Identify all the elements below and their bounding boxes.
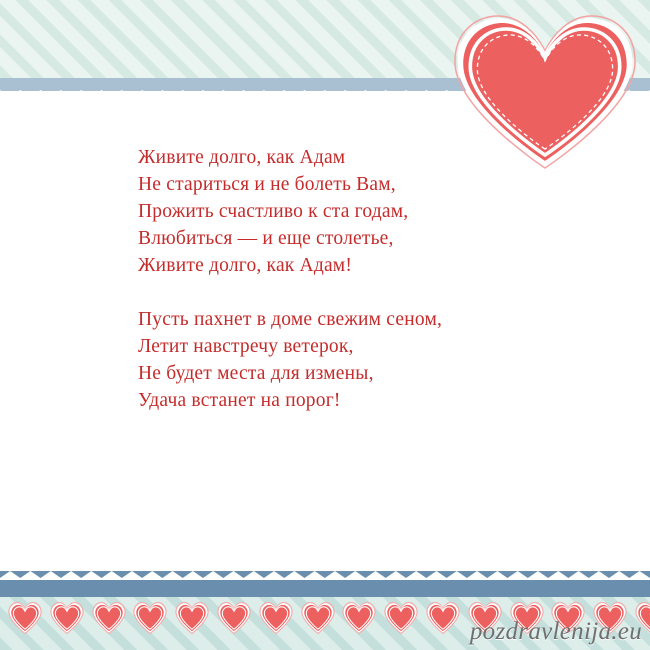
poem-stanza-1: Живите долго, как Адам Не стариться и не…: [138, 144, 578, 279]
heart-icon: [49, 601, 85, 635]
poem-line: Прожить счастливо к ста годам,: [138, 198, 578, 225]
heart-icon: [132, 601, 168, 635]
watermark-text: pozdravlenija.eu: [470, 618, 642, 646]
heart-icon: [258, 601, 294, 635]
poem-stanza-2: Пусть пахнет в доме свежим сеном, Летит …: [138, 306, 578, 414]
mini-heart-icon: [383, 601, 419, 635]
poem-text: Живите долго, как Адам Не стариться и не…: [138, 144, 578, 414]
poem-line: Не стариться и не болеть Вам,: [138, 171, 578, 198]
poem-line: Пусть пахнет в доме свежим сеном,: [138, 306, 578, 333]
mini-heart-icon: [7, 601, 43, 635]
heart-icon: [341, 601, 377, 635]
heart-icon: [7, 601, 43, 635]
poem-line: Живите долго, как Адам: [138, 144, 578, 171]
heart-icon: [300, 601, 336, 635]
mini-heart-icon: [49, 601, 85, 635]
poem-line: Удача встанет на порог!: [138, 387, 578, 414]
mini-heart-icon: [258, 601, 294, 635]
mini-heart-icon: [300, 601, 336, 635]
mini-heart-icon: [132, 601, 168, 635]
mini-heart-icon: [91, 601, 127, 635]
bottom-blue-band: [0, 580, 650, 597]
mini-heart-icon: [174, 601, 210, 635]
poem-line: Летит навстречу ветерок,: [138, 333, 578, 360]
mini-heart-icon: [341, 601, 377, 635]
heart-icon: [383, 601, 419, 635]
mini-heart-icon: [216, 601, 252, 635]
heart-icon: [91, 601, 127, 635]
greeting-card: Живите долго, как Адам Не стариться и не…: [0, 0, 650, 650]
heart-icon: [425, 601, 461, 635]
heart-icon: [216, 601, 252, 635]
heart-icon: [174, 601, 210, 635]
mini-heart-icon: [425, 601, 461, 635]
poem-line: Не будет места для измены,: [138, 360, 578, 387]
poem-line: Влюбиться — и еще столетье,: [138, 225, 578, 252]
poem-line: Живите долго, как Адам!: [138, 252, 578, 279]
